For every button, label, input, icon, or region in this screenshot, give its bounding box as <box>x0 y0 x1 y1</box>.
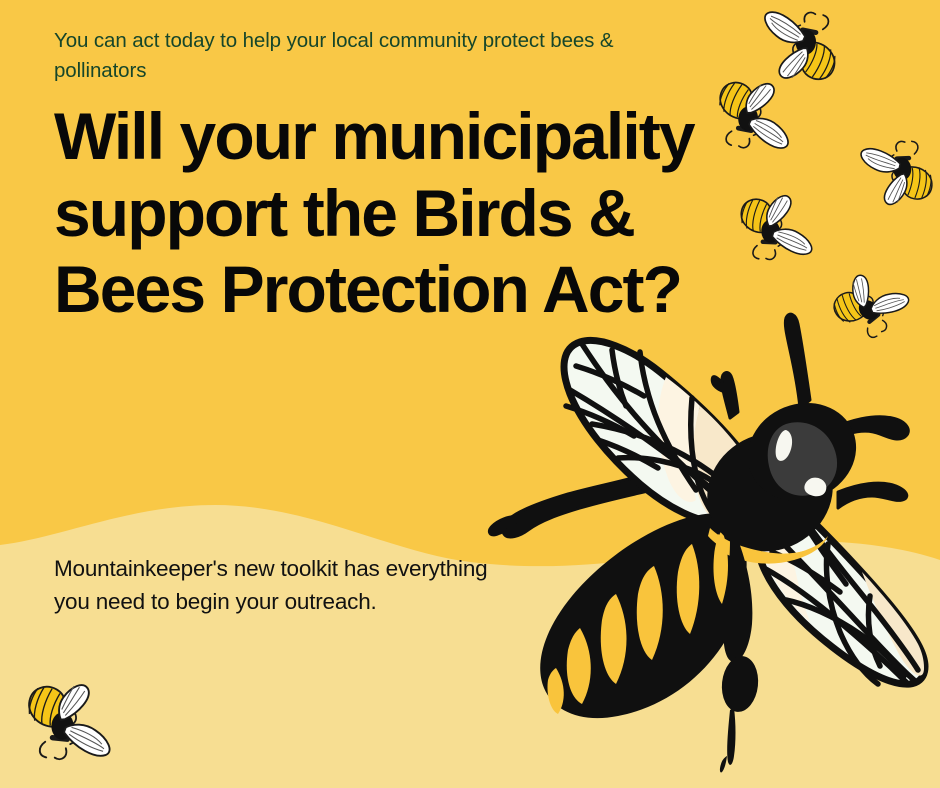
text-stack: You can act today to help your local com… <box>54 26 694 328</box>
eyebrow-text: You can act today to help your local com… <box>54 26 679 86</box>
poster-canvas: You can act today to help your local com… <box>0 0 940 788</box>
page-title: Will your municipality support the Birds… <box>54 98 694 328</box>
subcopy-text: Mountainkeeper's new toolkit has everyth… <box>54 552 504 618</box>
